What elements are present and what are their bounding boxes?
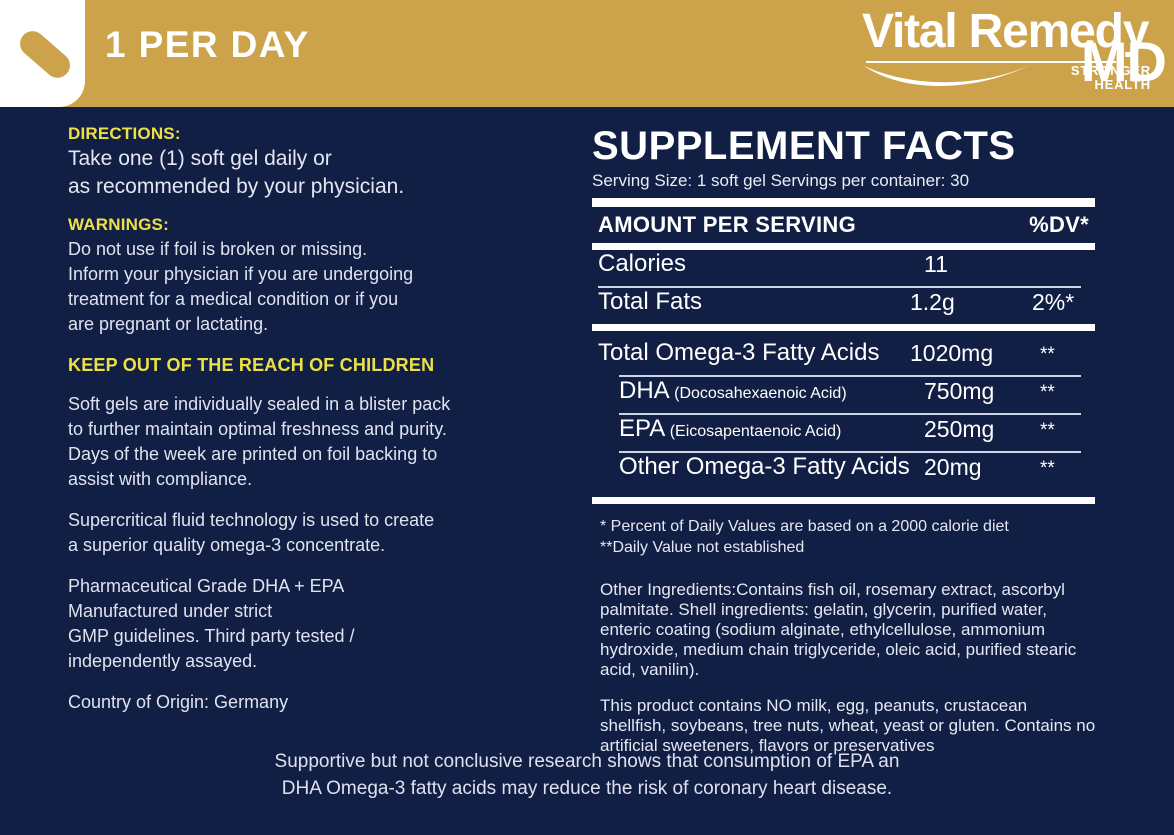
- row-amount: 750mg: [924, 377, 994, 405]
- rule-under-fats: [592, 324, 1095, 331]
- table-column-headers: AMOUNT PER SERVING %DV*: [592, 207, 1097, 243]
- grade-body: Pharmaceutical Grade DHA + EPA Manufactu…: [68, 574, 548, 674]
- row-label-sub: (Docosahexaenoic Acid): [670, 385, 847, 402]
- row-label: EPA (Eicosapentaenoic Acid): [619, 415, 841, 446]
- origin-body: Country of Origin: Germany: [68, 690, 548, 715]
- row-amount: 1020mg: [910, 339, 993, 367]
- row-amount: 11: [924, 250, 948, 278]
- footnote-not-established: **Daily Value not established: [600, 537, 1097, 558]
- row-amount: 20mg: [924, 453, 982, 481]
- footnote-daily-values: * Percent of Daily Values are based on a…: [600, 516, 1097, 537]
- row-amount: 250mg: [924, 415, 994, 443]
- table-row: Total Omega-3 Fatty Acids 1020mg **: [592, 339, 1097, 375]
- supplement-facts-panel: SUPPLEMENT FACTS Serving Size: 1 soft ge…: [592, 124, 1097, 756]
- serving-info: Serving Size: 1 soft gel Servings per co…: [592, 170, 1097, 192]
- swoosh-icon: [862, 62, 1052, 94]
- supercritical-body: Supercritical fluid technology is used t…: [68, 508, 548, 558]
- left-column: DIRECTIONS: Take one (1) soft gel daily …: [68, 124, 548, 715]
- row-label: Total Fats: [598, 288, 702, 316]
- supplement-facts-title: SUPPLEMENT FACTS: [592, 124, 1097, 168]
- allergen-statement-text: This product contains NO milk, egg, pean…: [600, 696, 1097, 756]
- rule-bottom: [592, 497, 1095, 504]
- header-title: 1 PER DAY: [105, 26, 310, 63]
- table-row: DHA (Docosahexaenoic Acid) 750mg **: [592, 377, 1097, 413]
- directions-heading: DIRECTIONS:: [68, 124, 548, 144]
- row-dv: **: [1040, 341, 1055, 369]
- rule-under-headers: [592, 243, 1095, 250]
- brand-logo: Vital Remedy STRONGER HEALTH MD: [826, 6, 1166, 102]
- row-amount: 1.2g: [910, 288, 955, 316]
- row-dv: **: [1040, 417, 1055, 445]
- row-label-sub: (Eicosapentaenoic Acid): [665, 423, 841, 440]
- header-band: 1 PER DAY Vital Remedy STRONGER HEALTH M…: [0, 0, 1174, 107]
- row-dv: **: [1040, 379, 1055, 407]
- ingredients-section: Other Ingredients:Contains fish oil, ros…: [592, 580, 1097, 756]
- warnings-heading: WARNINGS:: [68, 215, 548, 235]
- keep-out-heading: KEEP OUT OF THE REACH OF CHILDREN: [68, 355, 548, 376]
- row-dv: 2%*: [1032, 288, 1074, 316]
- row-label: Calories: [598, 250, 686, 278]
- other-ingredients-text: Other Ingredients:Contains fish oil, ros…: [600, 580, 1097, 680]
- dv-header: %DV*: [1029, 212, 1089, 238]
- row-label: Total Omega-3 Fatty Acids: [598, 339, 879, 367]
- table-row: Calories 11: [592, 250, 1097, 286]
- logo-suffix: MD: [1081, 34, 1166, 90]
- table-row: EPA (Eicosapentaenoic Acid) 250mg **: [592, 415, 1097, 451]
- capsule-icon: [12, 22, 74, 84]
- warnings-body: Do not use if foil is broken or missing.…: [68, 237, 548, 337]
- rule-top: [592, 198, 1095, 207]
- blister-body: Soft gels are individually sealed in a b…: [68, 392, 548, 492]
- amount-per-serving-header: AMOUNT PER SERVING: [598, 212, 856, 238]
- row-label: Other Omega-3 Fatty Acids: [619, 453, 910, 481]
- table-row: Other Omega-3 Fatty Acids 20mg **: [592, 453, 1097, 489]
- health-claim-disclaimer: Supportive but not conclusive research s…: [0, 748, 1174, 802]
- footnotes: * Percent of Daily Values are based on a…: [592, 516, 1097, 558]
- table-row: Total Fats 1.2g 2%*: [592, 288, 1097, 324]
- row-label: DHA (Docosahexaenoic Acid): [619, 377, 847, 408]
- directions-body: Take one (1) soft gel daily or as recomm…: [68, 145, 548, 201]
- row-dv: **: [1040, 455, 1055, 483]
